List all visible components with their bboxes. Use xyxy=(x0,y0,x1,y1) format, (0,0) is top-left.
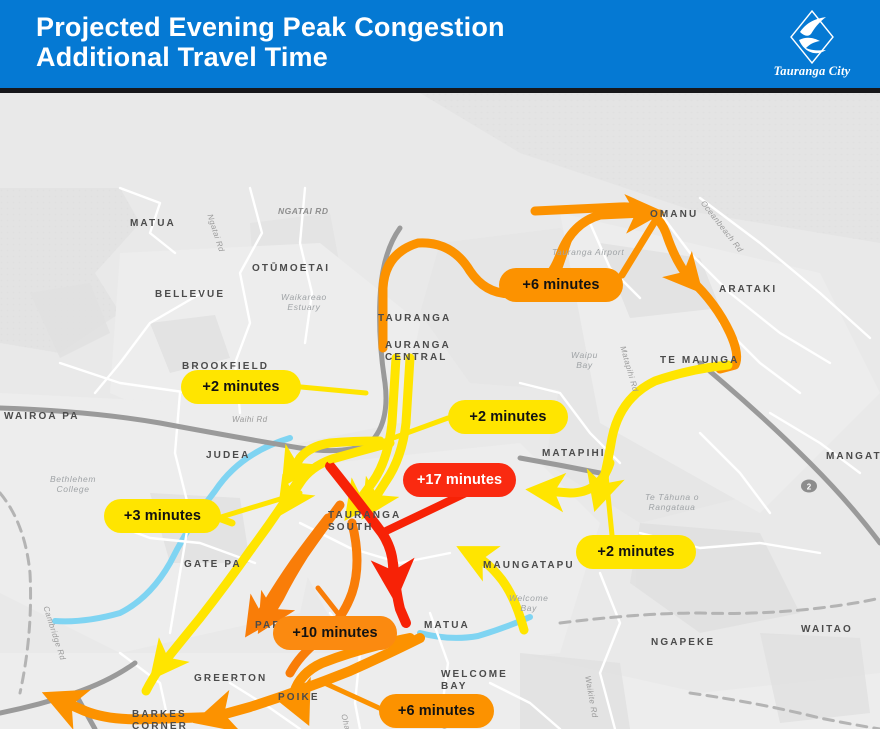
water-label: Te Tāhuna o Rangataua xyxy=(645,492,699,512)
callout-delay-10min-south[interactable]: +10 minutes xyxy=(273,616,397,650)
callout-delay-2min-city[interactable]: +2 minutes xyxy=(448,400,568,434)
water-label: Bethlehem College xyxy=(50,474,96,494)
route-red-spur xyxy=(393,563,406,623)
route-red-leader xyxy=(386,491,470,531)
tauranga-diamond-logo-icon xyxy=(790,10,834,64)
water-label: Welcome Bay xyxy=(509,593,548,613)
callout-delay-6min-welcomebay[interactable]: +6 minutes xyxy=(379,694,494,728)
congestion-map-page: Projected Evening Peak Congestion Additi… xyxy=(0,0,880,729)
tauranga-city-logo: Tauranga City xyxy=(764,10,860,84)
congestion-routes-layer xyxy=(0,93,880,729)
water-label: Waipu Bay xyxy=(571,350,598,370)
road-label: Waihi Rd xyxy=(232,415,268,424)
page-header: Projected Evening Peak Congestion Additi… xyxy=(0,0,880,88)
callout-delay-6min-airport[interactable]: +6 minutes xyxy=(499,268,623,302)
map-canvas[interactable]: 2 xyxy=(0,93,880,729)
callout-delay-2min-matapihi[interactable]: +2 minutes xyxy=(576,535,696,569)
water-label: Waikareao Estuary xyxy=(281,292,327,312)
callout-delay-2min-brookfield[interactable]: +2 minutes xyxy=(181,370,301,404)
route-orange-west-barkes xyxy=(62,701,214,719)
route-yellow-matapihi xyxy=(600,365,728,493)
callout-delay-17min-central[interactable]: +17 minutes xyxy=(403,463,516,497)
route-orange-airport-spur xyxy=(622,213,660,275)
page-title: Projected Evening Peak Congestion Additi… xyxy=(36,12,505,72)
water-label: Tauranga Airport xyxy=(552,247,624,257)
route-yellow-barkes xyxy=(146,665,162,691)
callout-delay-3min-gatepa[interactable]: +3 minutes xyxy=(104,499,221,533)
route-orange-arataki xyxy=(690,279,737,369)
logo-wordmark: Tauranga City xyxy=(764,64,860,79)
